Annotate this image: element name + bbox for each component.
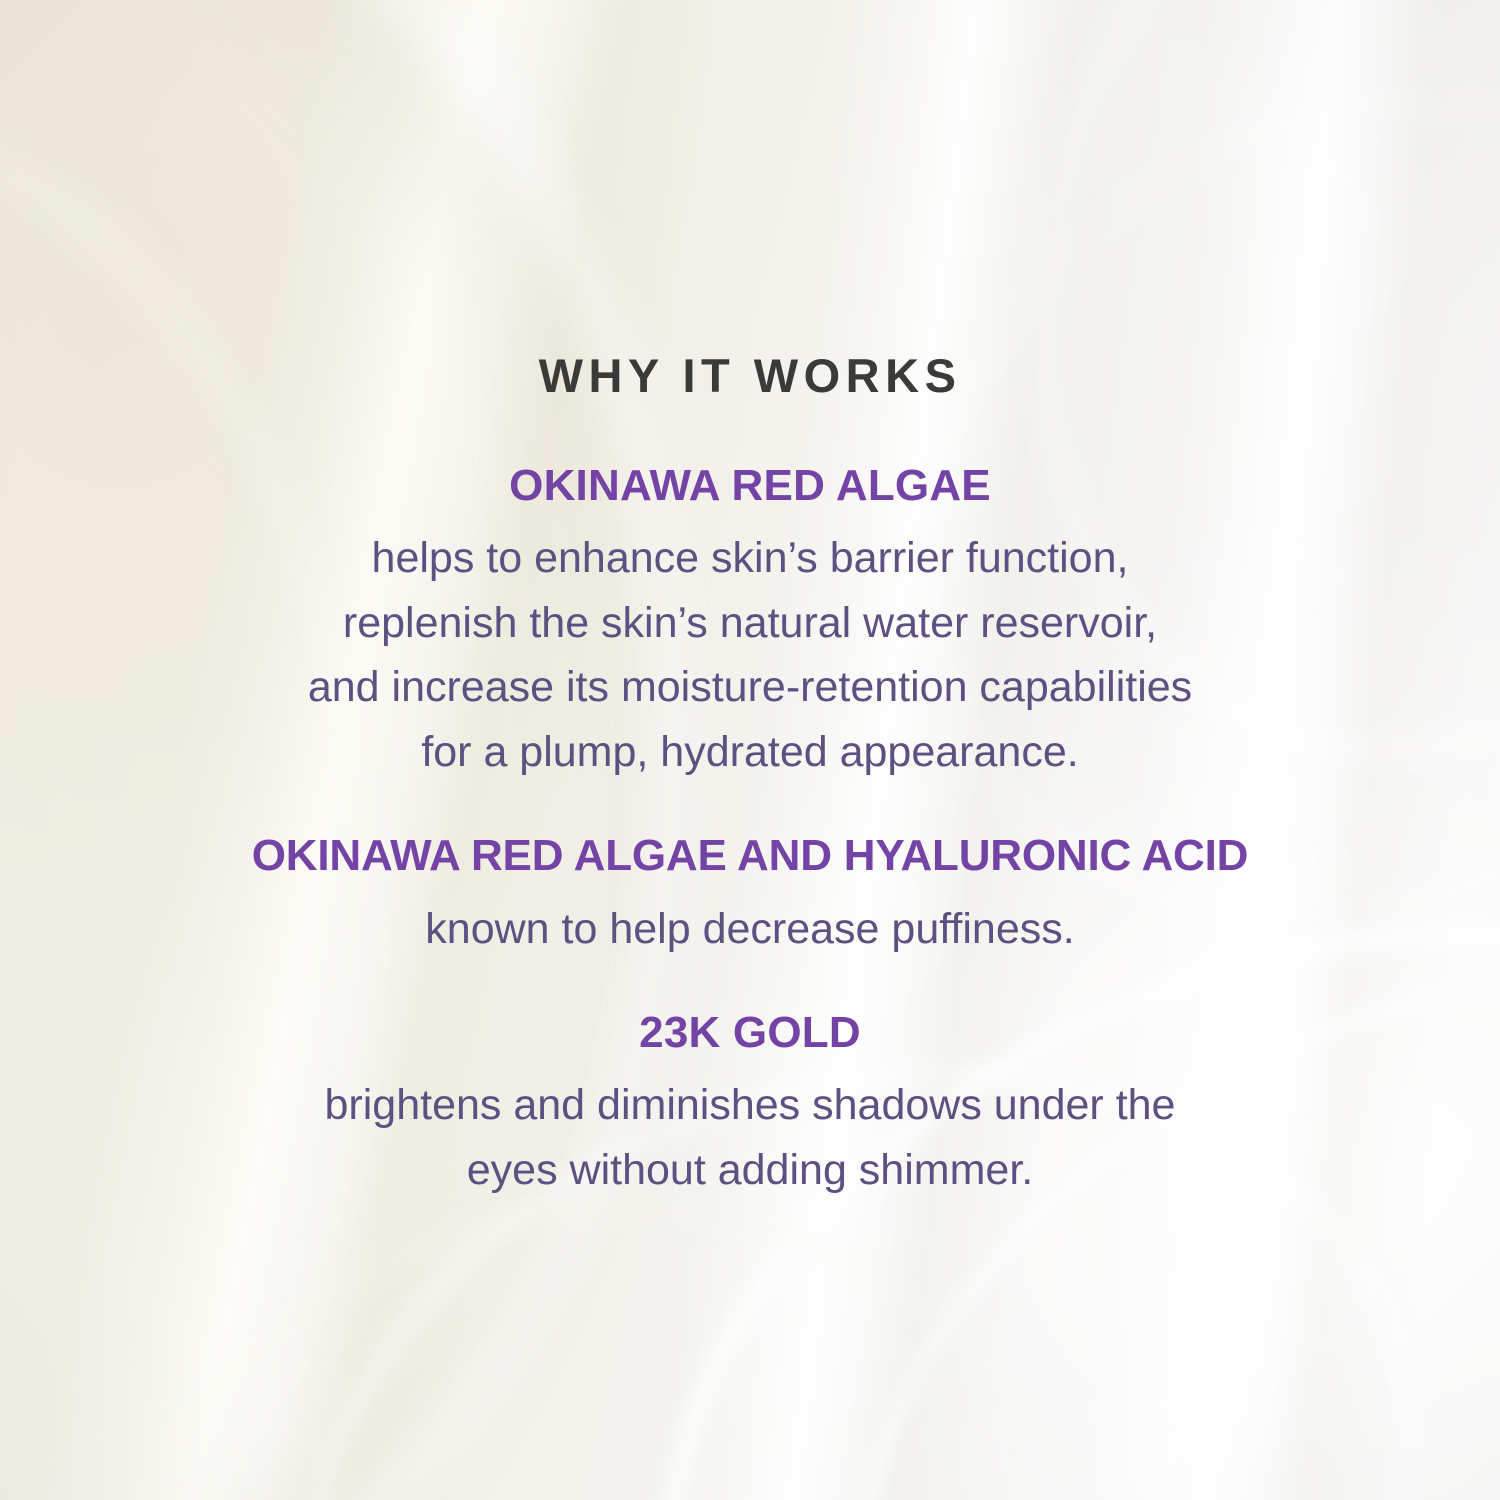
benefit-block-23k-gold: 23K GOLD brightens and diminishes shadow… (70, 1008, 1430, 1202)
ingredient-description-okinawa-red-algae: helps to enhance skin’s barrier function… (70, 526, 1430, 784)
ingredient-description-23k-gold: brightens and diminishes shadows under t… (70, 1073, 1430, 1202)
benefit-block-okinawa-red-algae: OKINAWA RED ALGAE helps to enhance skin’… (70, 461, 1430, 784)
content-column: WHY IT WORKS OKINAWA RED ALGAE helps to … (0, 0, 1500, 1500)
product-benefits-graphic: WHY IT WORKS OKINAWA RED ALGAE helps to … (0, 0, 1500, 1500)
ingredient-heading-23k-gold: 23K GOLD (70, 1008, 1430, 1057)
benefit-block-algae-hyaluronic-acid: OKINAWA RED ALGAE AND HYALURONIC ACID kn… (70, 831, 1430, 961)
description-line: replenish the skin’s natural water reser… (70, 591, 1430, 656)
description-line: for a plump, hydrated appearance. (70, 720, 1430, 785)
description-line: helps to enhance skin’s barrier function… (70, 526, 1430, 591)
ingredient-heading-okinawa-red-algae: OKINAWA RED ALGAE (70, 461, 1430, 510)
ingredient-description-algae-hyaluronic-acid: known to help decrease puffiness. (70, 897, 1430, 962)
description-line: known to help decrease puffiness. (70, 897, 1430, 962)
description-line: brightens and diminishes shadows under t… (70, 1073, 1430, 1138)
ingredient-heading-algae-and-hyaluronic-acid: OKINAWA RED ALGAE AND HYALURONIC ACID (70, 831, 1430, 880)
description-line: and increase its moisture-retention capa… (70, 655, 1430, 720)
page-title: WHY IT WORKS (539, 352, 962, 399)
description-line: eyes without adding shimmer. (70, 1138, 1430, 1203)
